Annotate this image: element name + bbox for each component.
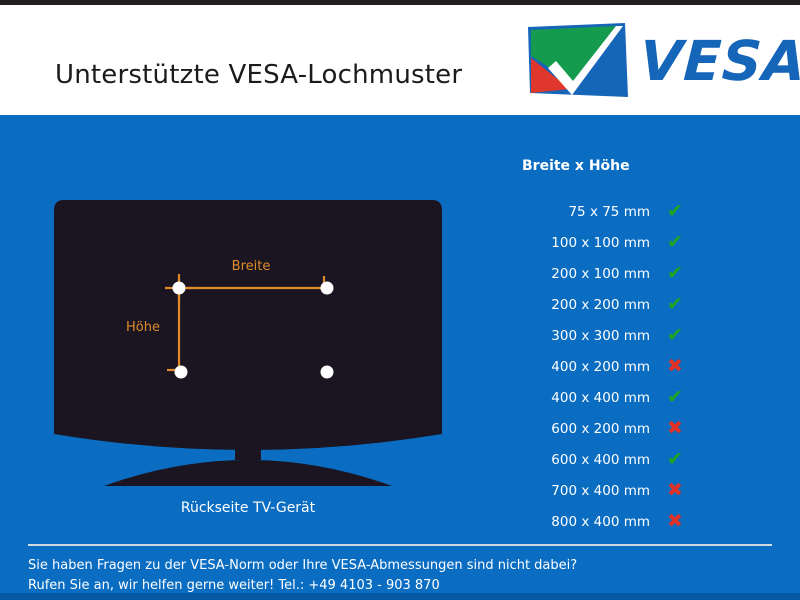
unsupported-cross-icon: ✖ xyxy=(650,419,700,438)
vesa-hole-bottom-right xyxy=(321,366,334,379)
pattern-size-label: 400 x 200 mm xyxy=(500,359,650,375)
footer-divider xyxy=(28,544,772,546)
tv-neck-shape xyxy=(235,434,261,460)
pattern-size-label: 200 x 200 mm xyxy=(500,297,650,313)
table-row: 75 x 75 mm✔ xyxy=(500,196,730,227)
table-row: 200 x 200 mm✔ xyxy=(500,289,730,320)
table-row: 400 x 400 mm✔ xyxy=(500,382,730,413)
footer-contact-text: Sie haben Fragen zu der VESA-Norm oder I… xyxy=(28,556,772,596)
pattern-size-label: 200 x 100 mm xyxy=(500,266,650,282)
vesa-logo-mark-icon xyxy=(528,23,628,101)
breite-label: Breite xyxy=(232,259,271,274)
table-row: 600 x 200 mm✖ xyxy=(500,413,730,444)
pattern-size-label: 800 x 400 mm xyxy=(500,514,650,530)
supported-check-icon: ✔ xyxy=(650,233,700,252)
table-header-label: Breite x Höhe xyxy=(500,158,730,174)
header-bar: Unterstützte VESA-Lochmuster VESA xyxy=(0,5,800,115)
supported-check-icon: ✔ xyxy=(650,388,700,407)
supported-check-icon: ✔ xyxy=(650,326,700,345)
pattern-size-label: 700 x 400 mm xyxy=(500,483,650,499)
vesa-logo: VESA xyxy=(528,23,786,101)
supported-check-icon: ✔ xyxy=(650,295,700,314)
footer-line-2: Rufen Sie an, wir helfen gerne weiter! T… xyxy=(28,576,772,596)
table-row: 200 x 100 mm✔ xyxy=(500,258,730,289)
footer-line-1: Sie haben Fragen zu der VESA-Norm oder I… xyxy=(28,556,772,576)
pattern-size-label: 600 x 400 mm xyxy=(500,452,650,468)
unsupported-cross-icon: ✖ xyxy=(650,357,700,376)
vesa-wordmark: VESA xyxy=(638,30,800,92)
table-row: 100 x 100 mm✔ xyxy=(500,227,730,258)
pattern-size-label: 600 x 200 mm xyxy=(500,421,650,437)
unsupported-cross-icon: ✖ xyxy=(650,512,700,531)
pattern-size-label: 100 x 100 mm xyxy=(500,235,650,251)
vesa-hole-bottom-left xyxy=(175,366,188,379)
pattern-size-label: 75 x 75 mm xyxy=(500,204,650,220)
supported-check-icon: ✔ xyxy=(650,264,700,283)
table-row: 300 x 300 mm✔ xyxy=(500,320,730,351)
vesa-hole-top-left xyxy=(173,282,186,295)
table-row: 800 x 400 mm✖ xyxy=(500,506,730,537)
tv-base-shape xyxy=(104,460,392,486)
table-rows: 75 x 75 mm✔100 x 100 mm✔200 x 100 mm✔200… xyxy=(500,196,730,537)
vesa-pattern-table: Breite x Höhe 75 x 75 mm✔100 x 100 mm✔20… xyxy=(500,158,730,537)
unsupported-cross-icon: ✖ xyxy=(650,481,700,500)
hoehe-label: Höhe xyxy=(126,320,160,335)
supported-check-icon: ✔ xyxy=(650,202,700,221)
table-row: 600 x 400 mm✔ xyxy=(500,444,730,475)
vesa-hole-top-right xyxy=(321,282,334,295)
supported-check-icon: ✔ xyxy=(650,450,700,469)
pattern-size-label: 400 x 400 mm xyxy=(500,390,650,406)
table-row: 700 x 400 mm✖ xyxy=(500,475,730,506)
tv-back-diagram: Breite Höhe xyxy=(48,198,448,488)
vesa-info-graphic: Unterstützte VESA-Lochmuster VESA xyxy=(0,0,800,600)
page-title: Unterstützte VESA-Lochmuster xyxy=(55,60,462,90)
pattern-size-label: 300 x 300 mm xyxy=(500,328,650,344)
tv-panel-shape xyxy=(54,200,442,450)
table-row: 400 x 200 mm✖ xyxy=(500,351,730,382)
tv-diagram-caption: Rückseite TV-Gerät xyxy=(48,500,448,516)
